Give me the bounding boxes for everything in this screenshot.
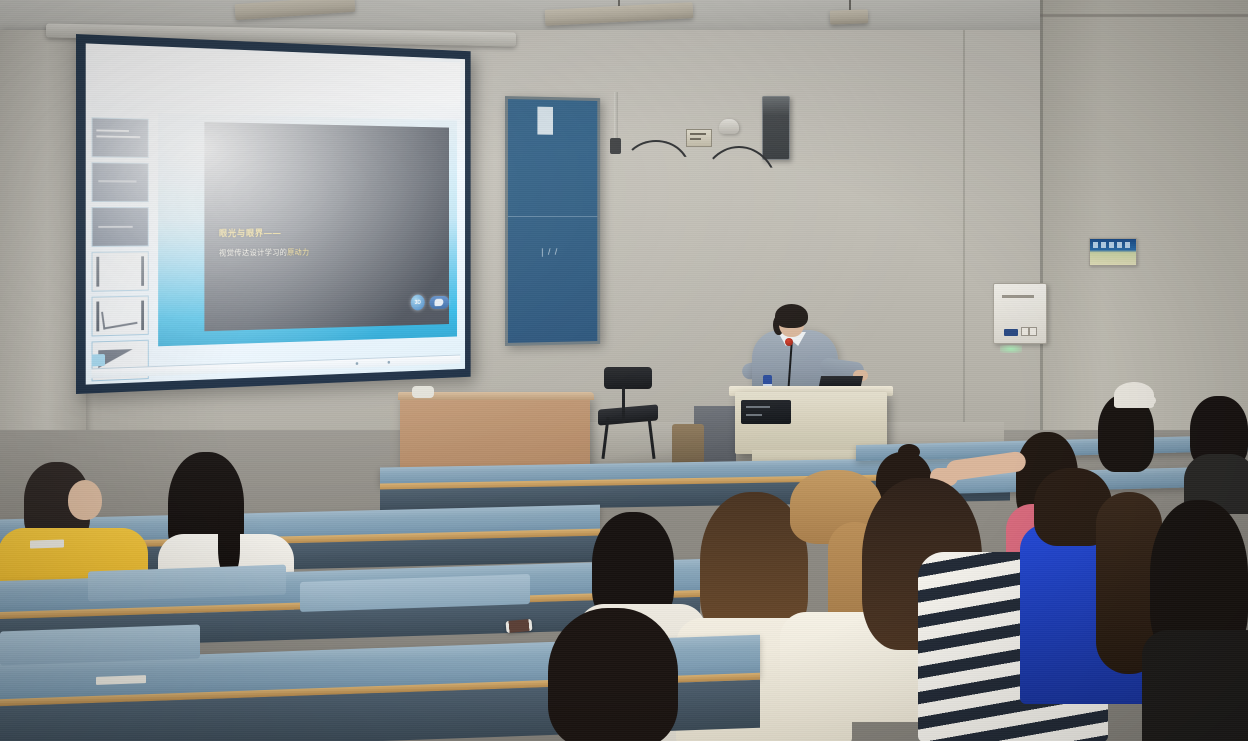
badge-pill-icon bbox=[430, 296, 449, 309]
ceiling-lamp-3 bbox=[830, 9, 868, 24]
chair-leg-2 bbox=[647, 417, 655, 459]
wall-top-line bbox=[1040, 14, 1248, 17]
slide-title: 眼光与眼界—— bbox=[219, 226, 282, 239]
wall-seam-middle bbox=[963, 30, 965, 430]
bench-seat-3 bbox=[0, 625, 200, 666]
ppt-thumb-1[interactable] bbox=[92, 117, 149, 158]
microphone-icon bbox=[785, 338, 793, 346]
junction-box bbox=[686, 129, 712, 147]
slide-subtitle-main: 视觉传达设计学习的 bbox=[219, 248, 287, 257]
ppt-toolbar[interactable] bbox=[92, 48, 461, 119]
poster-headline bbox=[1093, 242, 1133, 248]
paper-sheet bbox=[30, 539, 64, 548]
board-chalk-marks: | / / bbox=[541, 247, 558, 257]
folding-chair bbox=[598, 367, 660, 459]
blue-notice-board: | / / bbox=[505, 96, 600, 346]
conduit-head-icon bbox=[610, 138, 621, 154]
desk-white-object bbox=[412, 386, 434, 398]
ppt-thumb-4[interactable] bbox=[92, 251, 149, 291]
wall-speaker bbox=[762, 96, 790, 160]
smartphone bbox=[506, 619, 533, 633]
ppt-thumb-5[interactable] bbox=[92, 296, 149, 337]
ppt-scrollbar[interactable] bbox=[92, 354, 105, 366]
right-wall-column bbox=[1040, 0, 1248, 430]
lecture-hall-photo: 眼光与眼界—— 视觉传达设计学习的原动力 3D | / / bbox=[0, 0, 1248, 741]
laptop bbox=[819, 376, 863, 386]
projection-surface: 眼光与眼界—— 视觉传达设计学习的原动力 3D bbox=[86, 43, 465, 384]
presenter-hair bbox=[775, 304, 808, 328]
status-dot-2 bbox=[388, 361, 390, 364]
lectern-control-panel[interactable] bbox=[741, 400, 791, 424]
conduit-pipe bbox=[614, 92, 618, 144]
ppt-slide-thumbnails[interactable] bbox=[92, 117, 151, 362]
chair-backrest bbox=[604, 367, 652, 389]
control-panel-led bbox=[1000, 345, 1022, 353]
control-switch-3[interactable] bbox=[1029, 327, 1037, 336]
av-control-panel[interactable] bbox=[993, 283, 1047, 344]
control-switch-2[interactable] bbox=[1021, 327, 1029, 336]
bag-on-floor bbox=[672, 424, 704, 466]
board-divider bbox=[508, 216, 597, 217]
wall-seam-right bbox=[1040, 0, 1043, 430]
control-panel-label bbox=[1002, 295, 1034, 298]
chair-leg-3 bbox=[622, 387, 625, 423]
status-dot-1 bbox=[356, 362, 359, 365]
projection-screen[interactable]: 眼光与眼界—— 视觉传达设计学习的原动力 3D bbox=[76, 34, 471, 394]
board-posted-paper bbox=[537, 107, 553, 135]
wall-camera-icon bbox=[719, 119, 739, 134]
slide-subtitle-highlight: 原动力 bbox=[287, 248, 309, 257]
ppt-current-slide[interactable]: 眼光与眼界—— 视觉传达设计学习的原动力 3D bbox=[158, 113, 457, 346]
ppt-thumb-2[interactable] bbox=[92, 162, 149, 202]
wall-poster bbox=[1089, 238, 1137, 266]
control-switch-main[interactable] bbox=[1004, 329, 1018, 336]
slide-subtitle: 视觉传达设计学习的原动力 bbox=[219, 247, 309, 258]
ppt-thumb-3[interactable] bbox=[92, 207, 149, 247]
